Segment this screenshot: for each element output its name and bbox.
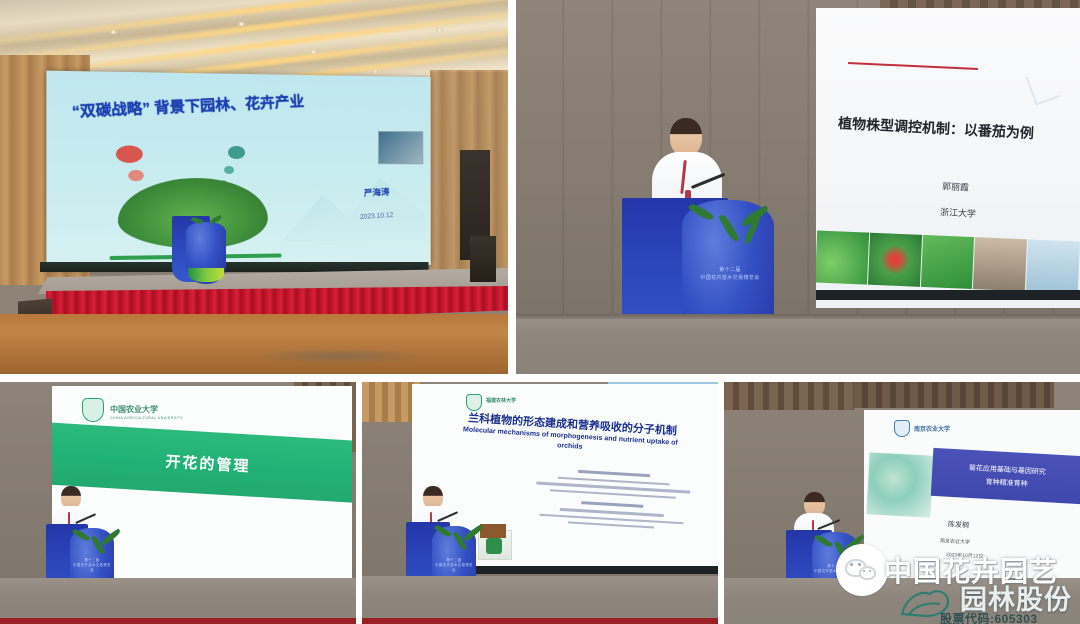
- flower-arrangement: [434, 508, 486, 556]
- university-name: 南京农业大学: [914, 424, 950, 433]
- flower-arrangement: [814, 516, 868, 566]
- speaker-head: [670, 118, 702, 156]
- slide-title-line1: 菊花应用基础与基因研究: [969, 462, 1046, 476]
- slide-title: “双碳战略” 背景下园林、花卉产业: [71, 90, 304, 121]
- slide-title: 植物株型调控机制：以番茄为例: [838, 113, 1035, 143]
- slide-speaker-name: 严海涛: [363, 185, 389, 199]
- flower-arrangement: [684, 178, 780, 262]
- podium-event-title: 第十二届中国花卉苗木交易博览会: [690, 266, 770, 282]
- university-name-en: CHINA AGRICULTURAL UNIVERSITY: [110, 416, 183, 420]
- flower-arrangement: [190, 206, 224, 232]
- photo-tile: [973, 237, 1027, 291]
- slide-title-line2: 育种精准育种: [985, 476, 1027, 488]
- photo-collage: “双碳战略” 背景下园林、花卉产业 严海涛 2023.10.12: [0, 0, 1080, 624]
- ceiling-spotlight: [110, 30, 117, 34]
- slide-date: 2023年10月12日: [946, 551, 984, 560]
- ceiling-spotlight: [310, 50, 317, 54]
- university-name: 中国农业大学: [110, 404, 158, 415]
- slide-body-text: [520, 467, 704, 552]
- projection-screen: 植物株型调控机制：以番茄为例 郭丽霞 浙江大学: [816, 8, 1080, 308]
- led-screen: “双碳战略” 背景下园林、花卉产业 严海涛 2023.10.12: [46, 71, 430, 272]
- slide-title-band: 菊花应用基础与基因研究 育种精准育种: [931, 448, 1080, 504]
- slide-title-band: 开花的管理: [52, 423, 352, 504]
- panel-top-left[interactable]: “双碳战略” 背景下园林、花卉产业 严海涛 2023.10.12: [0, 0, 508, 374]
- photo-tile: [868, 233, 922, 287]
- university-logo-icon: [894, 420, 910, 437]
- ceiling-spotlight: [238, 22, 245, 26]
- ceiling-spotlight: [372, 70, 379, 74]
- slide-speaker-name: 郭丽霞: [942, 179, 970, 193]
- ceiling-spotlight: [436, 28, 443, 32]
- slide-affiliation: 浙江大学: [940, 205, 977, 220]
- photo-tile: [1026, 239, 1080, 293]
- university-logo-icon: [82, 398, 104, 422]
- panel-bottom-left[interactable]: 中国农业大学 CHINA AGRICULTURAL UNIVERSITY 开花的…: [0, 382, 356, 624]
- panel-top-right[interactable]: 植物株型调控机制：以番茄为例 郭丽霞 浙江大学: [516, 0, 1080, 374]
- slide-photo-strip: [816, 230, 1080, 293]
- photo-tile: [816, 230, 869, 284]
- photo-tile: [921, 235, 975, 289]
- flower-arrangement: [72, 512, 124, 560]
- panel-bottom-middle[interactable]: 福建农林大学 兰科植物的形态建成和营养吸收的分子机制 Molecular mec…: [362, 382, 718, 624]
- slide-speaker-name: 陈发棡: [948, 519, 970, 530]
- panel-bottom-right[interactable]: 南京农业大学 菊花应用基础与基因研究 育种精准育种 陈发棡 南京农业大学 202…: [724, 382, 1080, 624]
- university-name: 福建农林大学: [486, 397, 516, 404]
- slide-illustration: [866, 452, 933, 517]
- slide-title: 开花的管理: [165, 450, 251, 476]
- projection-screen: 南京农业大学 菊花应用基础与基因研究 育种精准育种 陈发棡 南京农业大学 202…: [864, 410, 1080, 590]
- accent-rule: [848, 62, 978, 70]
- slide-affiliation-line: 南京农业大学: [940, 537, 970, 546]
